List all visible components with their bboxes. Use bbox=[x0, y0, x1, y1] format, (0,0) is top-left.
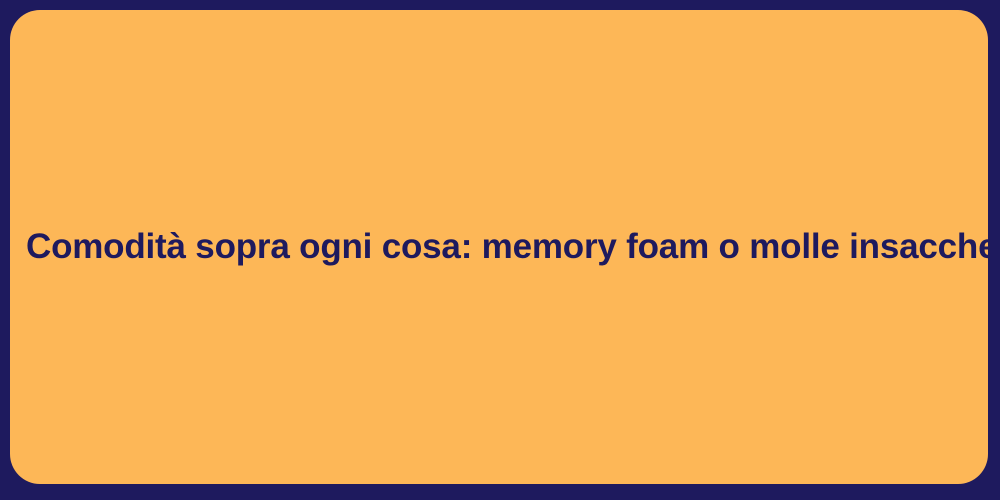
banner-headline: Comodità sopra ogni cosa: memory foam o … bbox=[26, 227, 972, 267]
banner-card: Comodità sopra ogni cosa: memory foam o … bbox=[10, 10, 988, 484]
banner-frame: Comodità sopra ogni cosa: memory foam o … bbox=[0, 0, 1000, 500]
